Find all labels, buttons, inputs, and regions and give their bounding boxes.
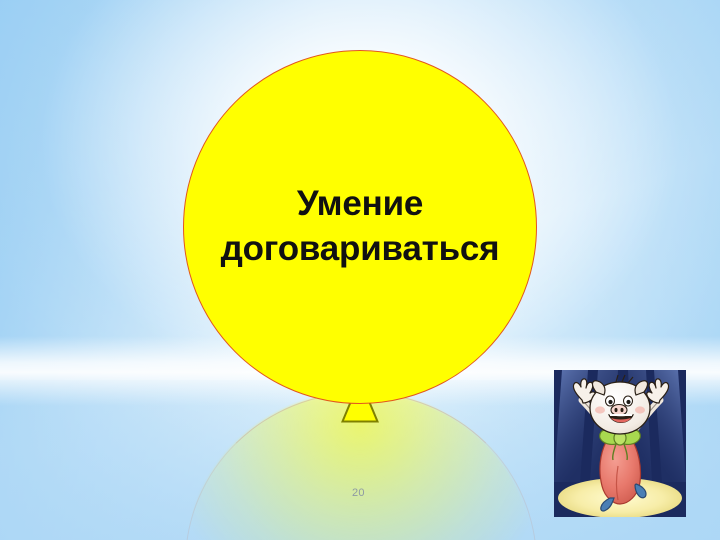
cartoon-pig-image[interactable] [554, 370, 686, 517]
circle-title-text: Умение договариваться [195, 182, 525, 272]
slide-number: 20 [352, 487, 365, 499]
yellow-circle-shape[interactable]: Умение договариваться [183, 50, 537, 404]
presentation-slide: Умение договариваться 20 [0, 0, 720, 540]
